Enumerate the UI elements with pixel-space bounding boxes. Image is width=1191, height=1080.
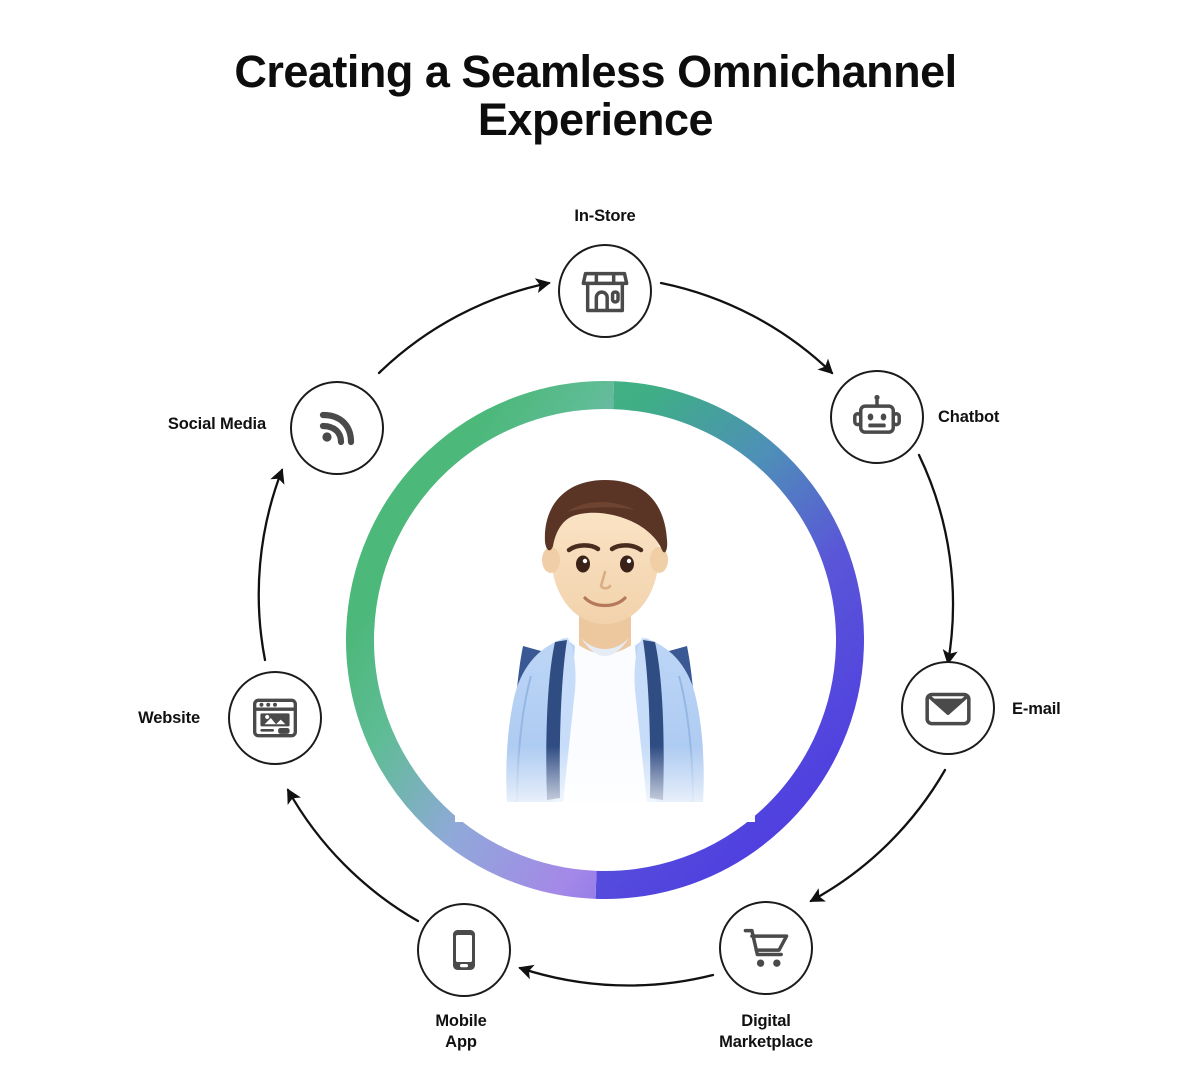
customer-persona — [455, 450, 755, 822]
node-website[interactable] — [228, 671, 322, 765]
node-email[interactable] — [901, 661, 995, 755]
browser-window-icon — [250, 693, 300, 743]
storefront-icon — [579, 265, 631, 317]
node-label-email: E-mail — [1012, 699, 1061, 720]
node-social-media[interactable] — [290, 381, 384, 475]
node-mobile-app[interactable] — [417, 903, 511, 997]
node-digital-marketplace[interactable] — [719, 901, 813, 995]
robot-icon — [851, 391, 903, 443]
node-label-website: Website — [138, 708, 200, 729]
envelope-icon — [923, 683, 973, 733]
infographic-canvas: Creating a Seamless Omnichannel Experien… — [0, 0, 1191, 1080]
node-in-store[interactable] — [558, 244, 652, 338]
node-label-digital-marketplace: Digital Marketplace — [719, 1011, 813, 1053]
node-label-chatbot: Chatbot — [938, 407, 999, 428]
node-label-in-store: In-Store — [574, 206, 635, 227]
shopping-cart-icon — [740, 922, 792, 974]
node-chatbot[interactable] — [830, 370, 924, 464]
smartphone-icon — [440, 926, 488, 974]
node-label-social-media: Social Media — [168, 414, 266, 435]
rss-signal-icon — [313, 404, 361, 452]
node-label-mobile-app: Mobile App — [435, 1011, 486, 1053]
